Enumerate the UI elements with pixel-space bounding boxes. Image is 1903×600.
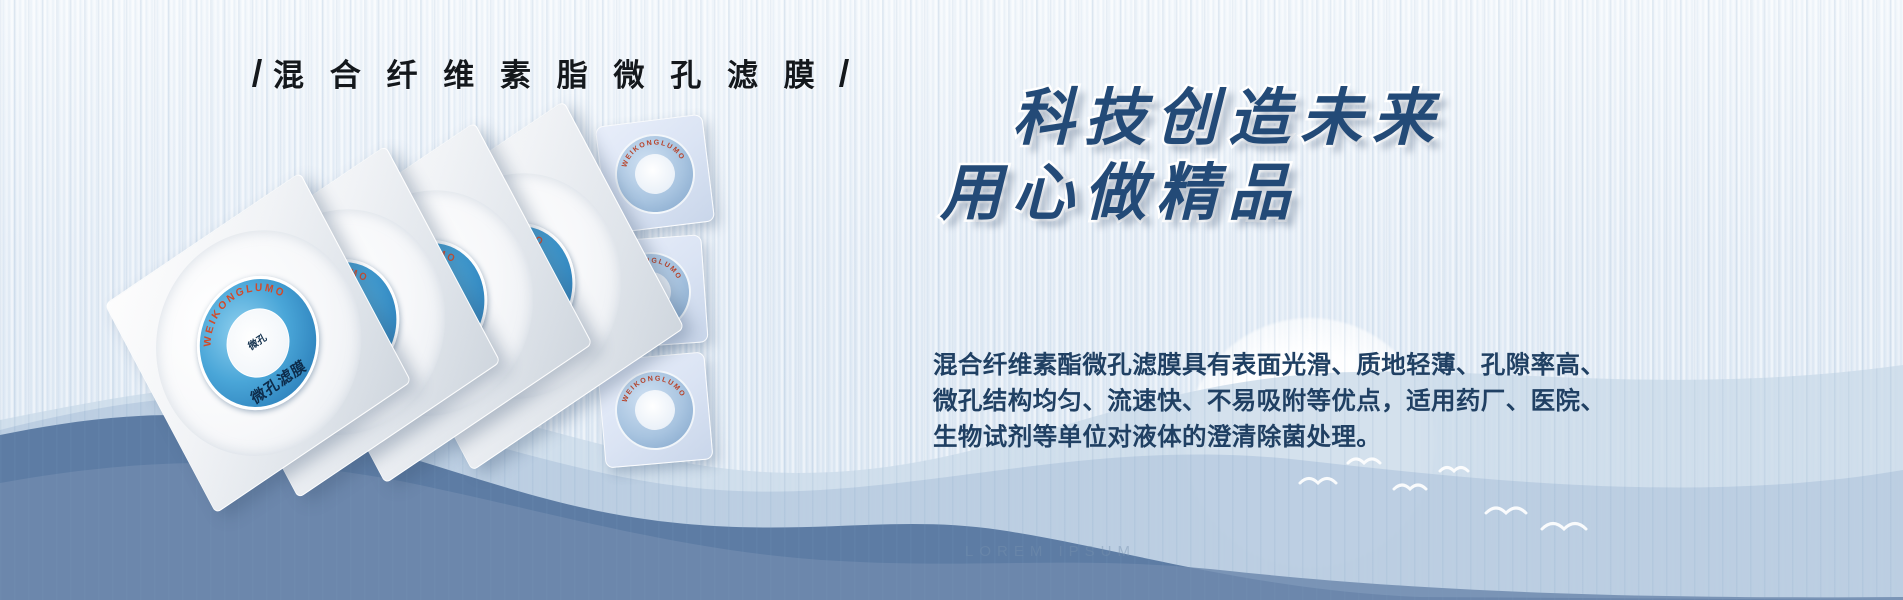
title-bar-right-icon — [839, 59, 849, 87]
slogan-block: 科技创造未来 用心做精品 — [940, 86, 1560, 224]
slogan-line-1: 科技创造未来 — [1012, 86, 1560, 149]
watermark-text: LOREM IPSUM — [965, 543, 1136, 560]
slogan-line-2: 用心做精品 — [940, 161, 1560, 224]
birds-flock — [1290, 455, 1650, 555]
description-line-2: 微孔结构均匀、流速快、不易吸附等优点，适用药厂、医院、 — [933, 384, 1613, 420]
filter-sample-disc: WEIKONGLUMO — [610, 129, 699, 218]
promo-banner: LOREM IPSUM 混 合 纤 维 素 脂 微 孔 滤 膜 科技创造未来 用… — [0, 0, 1903, 600]
description-line-3: 生物试剂等单位对液体的澄清除菌处理。 — [933, 420, 1613, 456]
label-emblem-text: 微孔 — [247, 333, 268, 353]
filter-sample-disc: WEIKONGLUMO — [612, 367, 699, 454]
title-bar-left-icon — [252, 59, 262, 87]
product-package-stack: WEIKONGLUMO 微孔 微孔滤膜 WEIKONGLUMO — [100, 130, 660, 550]
description-line-1: 混合纤维素酯微孔滤膜具有表面光滑、质地轻薄、孔隙率高、 — [933, 348, 1613, 384]
page-title: 混 合 纤 维 素 脂 微 孔 滤 膜 — [255, 50, 846, 95]
description-block: 混合纤维素酯微孔滤膜具有表面光滑、质地轻薄、孔隙率高、 微孔结构均匀、流速快、不… — [933, 348, 1613, 455]
page-title-text: 混 合 纤 维 素 脂 微 孔 滤 膜 — [273, 50, 824, 95]
